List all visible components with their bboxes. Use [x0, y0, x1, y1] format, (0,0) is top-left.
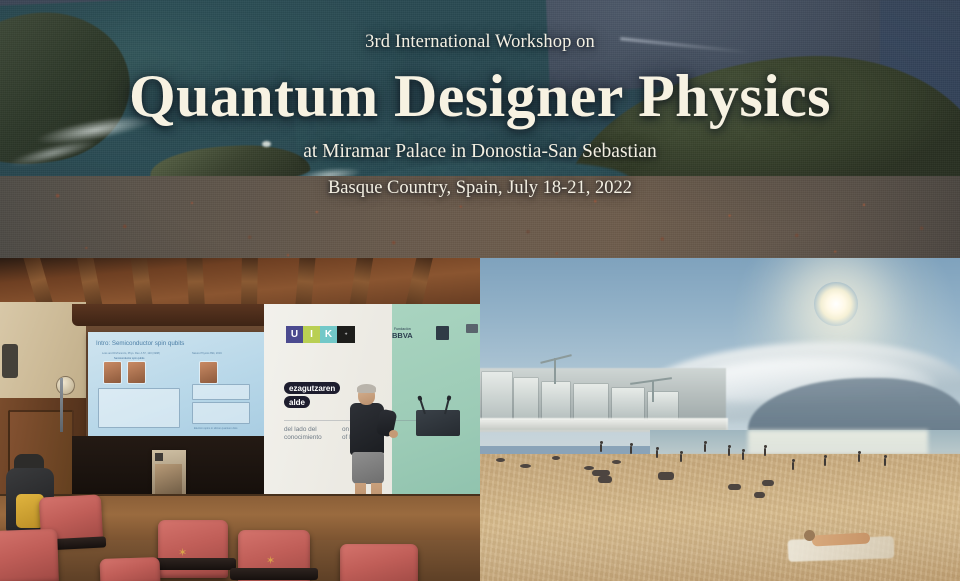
- uik-letter-u: U: [286, 326, 303, 343]
- speaker-hand: [389, 430, 398, 438]
- lectern: [416, 410, 460, 436]
- uik-logo: U I K ✳: [286, 326, 355, 343]
- construction-crane: [652, 380, 654, 402]
- sponsor-bbva-name: BBVA: [392, 332, 413, 340]
- wall-tagline-line1: ezagutzaren: [284, 382, 340, 394]
- sunbather: [802, 530, 874, 550]
- stage-easel-poster: [152, 450, 186, 498]
- projection-screen: Intro: Semiconductor spin qubits Loss an…: [88, 332, 264, 438]
- photo-beach: [480, 258, 960, 581]
- uik-letter-i: I: [303, 326, 320, 343]
- slide-portrait: [104, 362, 121, 383]
- slide-caption-footer: Electron spins in silicon quantum dots: [194, 427, 237, 430]
- photo-auditorium: Intro: Semiconductor spin qubits Loss an…: [0, 258, 480, 581]
- sponsor-logo-secondary: [436, 326, 449, 340]
- slide-caption-right: Nature Physics 894, 2019: [192, 352, 222, 355]
- beach-belongings: [658, 472, 674, 480]
- beach-person-lying: [496, 458, 505, 462]
- beach-belongings: [728, 484, 741, 490]
- page-title: Quantum Designer Physics: [129, 65, 831, 127]
- construction-crane: [554, 358, 556, 384]
- speaker-hair: [357, 384, 376, 393]
- upv-ehu-mark: ✳: [337, 326, 355, 343]
- beach-belongings: [754, 492, 765, 498]
- wall-tagline-line2: alde: [284, 396, 310, 408]
- workshop-kicker: 3rd International Workshop on: [365, 32, 595, 53]
- skyline-building: [612, 388, 644, 420]
- slide-portrait: [128, 362, 145, 383]
- slide-caption-left-2: Semiconductor spin qubits: [114, 357, 144, 360]
- skyline-building: [482, 372, 512, 420]
- stage-curtain: [72, 304, 272, 326]
- speaker-shorts: [352, 452, 384, 484]
- skyline-building: [514, 378, 538, 420]
- hero-banner: 3rd International Workshop on Quantum De…: [0, 0, 960, 258]
- wall-speaker-icon: [2, 344, 18, 378]
- theater-seat: [340, 544, 418, 581]
- beach-person-lying: [592, 470, 610, 476]
- sun-icon: [814, 282, 858, 326]
- poster-page: 3rd International Workshop on Quantum De…: [0, 0, 960, 581]
- slide-title: Intro: Semiconductor spin qubits: [96, 340, 256, 347]
- sponsor-logo-tertiary: [466, 324, 478, 333]
- sponsor-bbva: Fundación BBVA: [392, 328, 413, 340]
- beach-person: [630, 446, 632, 454]
- wall-clock-icon: [56, 376, 75, 395]
- slide-figure: [192, 402, 250, 424]
- slide-figure: [192, 384, 250, 400]
- seat-armrest: [230, 568, 318, 580]
- beach-belongings: [762, 480, 774, 486]
- skyline-building: [574, 384, 608, 420]
- rollup-banner-pole: [60, 378, 63, 432]
- easel-badge: [155, 453, 163, 461]
- beach-person-lying: [520, 464, 531, 468]
- skyline-building: [542, 382, 570, 420]
- uik-letter-k: K: [320, 326, 337, 343]
- seat-emblem: ✶: [266, 556, 275, 567]
- wall-subtitle-es: del lado del conocimiento: [284, 426, 322, 442]
- slide-portrait: [200, 362, 217, 383]
- hero-text-block: 3rd International Workshop on Quantum De…: [0, 0, 960, 258]
- beach-sand: [480, 454, 960, 581]
- beach-person-lying: [552, 456, 560, 460]
- theater-seat: [100, 557, 161, 581]
- photo-row: Intro: Semiconductor spin qubits Loss an…: [0, 258, 960, 581]
- venue-line: at Miramar Palace in Donostia-San Sebast…: [303, 141, 657, 163]
- slide-figure: [98, 388, 180, 428]
- beach-person-lying: [584, 466, 594, 470]
- slide-caption-left: Loss and DiVincenzo, Phys. Rev. A 57, 12…: [102, 352, 160, 355]
- beach-person-lying: [612, 460, 621, 464]
- sunbather-head: [804, 530, 815, 541]
- seat-armrest: [150, 558, 236, 570]
- dates-line: Basque Country, Spain, July 18-21, 2022: [328, 178, 632, 199]
- theater-seat: [0, 529, 59, 581]
- beach-belongings: [598, 476, 612, 483]
